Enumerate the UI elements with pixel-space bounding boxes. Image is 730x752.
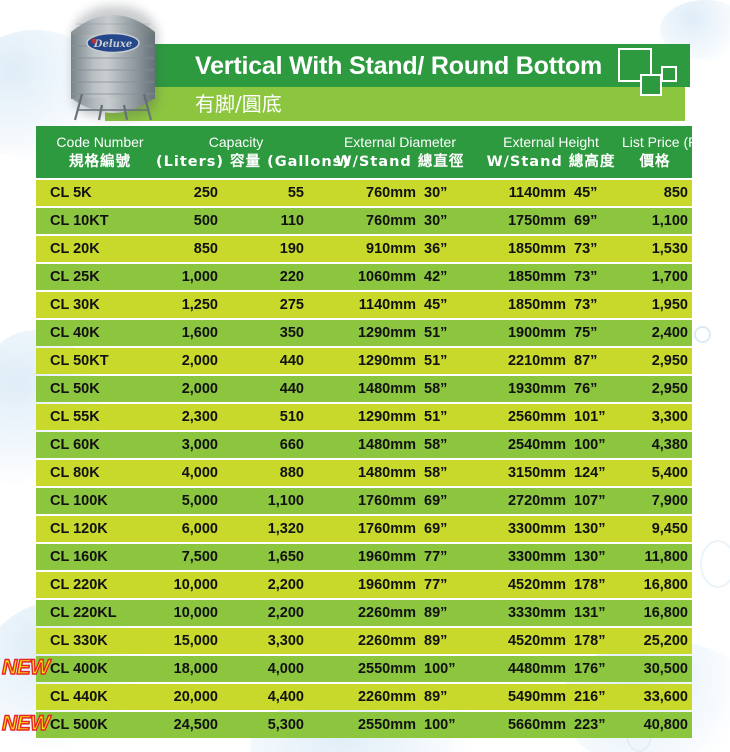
cell-list-price: 40,800	[616, 712, 688, 738]
cell-list-price: 16,800	[616, 600, 688, 626]
cell-list-price: 1,100	[616, 208, 688, 234]
cell-capacity-gallons: 4,400	[232, 684, 304, 710]
cell-capacity-liters: 24,500	[146, 712, 218, 738]
cell-capacity-liters: 2,000	[146, 376, 218, 402]
cell-height-mm: 1750mm	[474, 208, 566, 234]
cell-code: CL 120K	[50, 516, 150, 542]
cell-diameter-mm: 2260mm	[326, 684, 416, 710]
table-header-row: Code Number 規格編號 Capacity (Liters) 容量 (G…	[36, 126, 692, 178]
table-row: CL 10KT500110760mm30”1750mm69”1,100	[36, 208, 692, 234]
table-row: CL 40K1,6003501290mm51”1900mm75”2,400	[36, 320, 692, 346]
column-header-external-diameter: External Diameter W/Stand 總直徑	[320, 133, 480, 173]
cell-code: CL 80K	[50, 460, 150, 486]
cell-height-inch: 100”	[574, 432, 622, 458]
cell-capacity-liters: 500	[146, 208, 218, 234]
cell-list-price: 16,800	[616, 572, 688, 598]
price-table: Code Number 規格編號 Capacity (Liters) 容量 (G…	[36, 126, 692, 738]
cell-capacity-gallons: 350	[232, 320, 304, 346]
cell-capacity-liters: 4,000	[146, 460, 218, 486]
tank-shadow	[72, 6, 158, 118]
cell-height-mm: 2720mm	[474, 488, 566, 514]
table-row: CL 120K6,0001,3201760mm69”3300mm130”9,45…	[36, 516, 692, 542]
cell-diameter-mm: 1480mm	[326, 376, 416, 402]
cell-capacity-gallons: 275	[232, 292, 304, 318]
cell-diameter-inch: 77”	[424, 544, 472, 570]
cell-height-mm: 5490mm	[474, 684, 566, 710]
cell-height-inch: 130”	[574, 516, 622, 542]
cell-capacity-gallons: 880	[232, 460, 304, 486]
cell-diameter-inch: 42”	[424, 264, 472, 290]
cell-height-inch: 178”	[574, 628, 622, 654]
cell-capacity-gallons: 190	[232, 236, 304, 262]
cell-height-mm: 5660mm	[474, 712, 566, 738]
table-row: CL 400K18,0004,0002550mm100”4480mm176”30…	[36, 656, 692, 682]
cell-capacity-liters: 1,600	[146, 320, 218, 346]
new-badge: NEW	[2, 712, 62, 736]
cell-height-mm: 3300mm	[474, 516, 566, 542]
cell-capacity-liters: 850	[146, 236, 218, 262]
cell-code: CL 25K	[50, 264, 150, 290]
cell-code: CL 50KT	[50, 348, 150, 374]
cell-diameter-inch: 30”	[424, 208, 472, 234]
cell-diameter-inch: 69”	[424, 516, 472, 542]
cell-diameter-inch: 58”	[424, 460, 472, 486]
table-row: CL 500K24,5005,3002550mm100”5660mm223”40…	[36, 712, 692, 738]
cell-list-price: 850	[616, 180, 688, 206]
cell-capacity-gallons: 1,650	[232, 544, 304, 570]
cell-diameter-inch: 45”	[424, 292, 472, 318]
table-row: CL 160K7,5001,6501960mm77”3300mm130”11,8…	[36, 544, 692, 570]
cell-height-mm: 3300mm	[474, 544, 566, 570]
cell-diameter-inch: 51”	[424, 348, 472, 374]
cell-code: CL 440K	[50, 684, 150, 710]
cell-diameter-inch: 30”	[424, 180, 472, 206]
cell-code: CL 220KL	[50, 600, 150, 626]
cell-height-inch: 73”	[574, 236, 622, 262]
table-row: CL 55K2,3005101290mm51”2560mm101”3,300	[36, 404, 692, 430]
cell-height-inch: 87”	[574, 348, 622, 374]
cell-code: CL 500K	[50, 712, 150, 738]
column-header-external-height: External Height W/Stand 總高度	[476, 133, 626, 173]
cell-diameter-inch: 89”	[424, 628, 472, 654]
cell-height-mm: 3150mm	[474, 460, 566, 486]
cell-list-price: 33,600	[616, 684, 688, 710]
cell-list-price: 5,400	[616, 460, 688, 486]
cell-diameter-mm: 1480mm	[326, 460, 416, 486]
cell-code: CL 160K	[50, 544, 150, 570]
cell-capacity-liters: 250	[146, 180, 218, 206]
cell-code: CL 10KT	[50, 208, 150, 234]
table-row: CL 220KL10,0002,2002260mm89”3330mm131”16…	[36, 600, 692, 626]
cell-height-inch: 76”	[574, 376, 622, 402]
cell-height-mm: 1850mm	[474, 292, 566, 318]
cell-code: CL 40K	[50, 320, 150, 346]
cell-height-mm: 3330mm	[474, 600, 566, 626]
cell-diameter-mm: 1960mm	[326, 544, 416, 570]
cell-capacity-liters: 15,000	[146, 628, 218, 654]
table-row: CL 50KT2,0004401290mm51”2210mm87”2,950	[36, 348, 692, 374]
cell-list-price: 3,300	[616, 404, 688, 430]
cell-capacity-liters: 5,000	[146, 488, 218, 514]
cell-diameter-mm: 1290mm	[326, 348, 416, 374]
cell-diameter-inch: 69”	[424, 488, 472, 514]
cell-list-price: 9,450	[616, 516, 688, 542]
cell-diameter-mm: 1960mm	[326, 572, 416, 598]
cell-capacity-gallons: 440	[232, 348, 304, 374]
cell-height-inch: 69”	[574, 208, 622, 234]
cell-list-price: 2,950	[616, 376, 688, 402]
cell-code: CL 30K	[50, 292, 150, 318]
cell-height-inch: 73”	[574, 292, 622, 318]
cell-code: CL 100K	[50, 488, 150, 514]
cell-list-price: 30,500	[616, 656, 688, 682]
cell-diameter-inch: 100”	[424, 656, 472, 682]
page-title: Vertical With Stand/ Round Bottom	[195, 46, 675, 86]
cell-diameter-inch: 36”	[424, 236, 472, 262]
table-body: CL 5K25055760mm30”1140mm45”850CL 10KT500…	[36, 180, 692, 738]
table-row: CL 20K850190910mm36”1850mm73”1,530	[36, 236, 692, 262]
cell-height-mm: 4520mm	[474, 628, 566, 654]
water-tank-image: Deluxe	[58, 2, 168, 124]
cell-diameter-mm: 760mm	[326, 208, 416, 234]
cell-diameter-mm: 1290mm	[326, 404, 416, 430]
cell-diameter-mm: 2260mm	[326, 600, 416, 626]
cell-diameter-mm: 1760mm	[326, 488, 416, 514]
cell-diameter-mm: 1060mm	[326, 264, 416, 290]
cell-capacity-gallons: 2,200	[232, 600, 304, 626]
cell-capacity-liters: 3,000	[146, 432, 218, 458]
cell-capacity-gallons: 110	[232, 208, 304, 234]
cell-diameter-inch: 58”	[424, 376, 472, 402]
cell-capacity-liters: 10,000	[146, 572, 218, 598]
cell-capacity-gallons: 440	[232, 376, 304, 402]
cell-code: CL 5K	[50, 180, 150, 206]
cell-height-mm: 1140mm	[474, 180, 566, 206]
cell-height-mm: 2210mm	[474, 348, 566, 374]
cell-height-inch: 131”	[574, 600, 622, 626]
cell-code: CL 20K	[50, 236, 150, 262]
cell-capacity-gallons: 55	[232, 180, 304, 206]
cell-diameter-inch: 100”	[424, 712, 472, 738]
cell-height-mm: 1850mm	[474, 236, 566, 262]
cell-capacity-liters: 20,000	[146, 684, 218, 710]
cell-capacity-liters: 2,000	[146, 348, 218, 374]
page-title-chinese: 有脚/圓底	[195, 88, 675, 120]
cell-height-inch: 45”	[574, 180, 622, 206]
cell-height-inch: 216”	[574, 684, 622, 710]
cell-capacity-liters: 1,250	[146, 292, 218, 318]
cell-diameter-inch: 89”	[424, 600, 472, 626]
cell-list-price: 4,380	[616, 432, 688, 458]
cell-code: CL 220K	[50, 572, 150, 598]
table-row: CL 30K1,2502751140mm45”1850mm73”1,950	[36, 292, 692, 318]
cell-height-inch: 176”	[574, 656, 622, 682]
cell-diameter-mm: 910mm	[326, 236, 416, 262]
table-row: CL 80K4,0008801480mm58”3150mm124”5,400	[36, 460, 692, 486]
cell-capacity-gallons: 1,320	[232, 516, 304, 542]
cell-list-price: 2,950	[616, 348, 688, 374]
cell-height-inch: 223”	[574, 712, 622, 738]
cell-diameter-inch: 51”	[424, 404, 472, 430]
cell-capacity-gallons: 1,100	[232, 488, 304, 514]
cell-code: CL 55K	[50, 404, 150, 430]
column-header-code: Code Number 規格編號	[44, 133, 156, 173]
cell-capacity-gallons: 3,300	[232, 628, 304, 654]
cell-capacity-gallons: 4,000	[232, 656, 304, 682]
cell-height-mm: 4520mm	[474, 572, 566, 598]
cell-list-price: 1,700	[616, 264, 688, 290]
cell-capacity-gallons: 2,200	[232, 572, 304, 598]
cell-height-inch: 124”	[574, 460, 622, 486]
cell-diameter-mm: 2550mm	[326, 656, 416, 682]
cell-capacity-liters: 10,000	[146, 600, 218, 626]
cell-code: CL 50K	[50, 376, 150, 402]
cell-list-price: 1,530	[616, 236, 688, 262]
table-row: CL 50K2,0004401480mm58”1930mm76”2,950	[36, 376, 692, 402]
cell-height-mm: 4480mm	[474, 656, 566, 682]
cell-diameter-inch: 89”	[424, 684, 472, 710]
table-row: CL 25K1,0002201060mm42”1850mm73”1,700	[36, 264, 692, 290]
cell-diameter-mm: 2550mm	[326, 712, 416, 738]
new-badge: NEW	[2, 656, 62, 680]
table-row: CL 220K10,0002,2001960mm77”4520mm178”16,…	[36, 572, 692, 598]
cell-diameter-mm: 1290mm	[326, 320, 416, 346]
cell-code: CL 330K	[50, 628, 150, 654]
cell-capacity-gallons: 220	[232, 264, 304, 290]
cell-height-mm: 1930mm	[474, 376, 566, 402]
cell-height-inch: 75”	[574, 320, 622, 346]
cell-diameter-inch: 77”	[424, 572, 472, 598]
cell-height-inch: 73”	[574, 264, 622, 290]
cell-list-price: 7,900	[616, 488, 688, 514]
cell-capacity-gallons: 660	[232, 432, 304, 458]
cell-height-inch: 101”	[574, 404, 622, 430]
cell-capacity-gallons: 510	[232, 404, 304, 430]
cell-list-price: 25,200	[616, 628, 688, 654]
table-row: CL 5K25055760mm30”1140mm45”850	[36, 180, 692, 206]
table-row: CL 100K5,0001,1001760mm69”2720mm107”7,90…	[36, 488, 692, 514]
cell-diameter-mm: 2260mm	[326, 628, 416, 654]
cell-height-mm: 2540mm	[474, 432, 566, 458]
cell-capacity-liters: 18,000	[146, 656, 218, 682]
cell-height-mm: 1900mm	[474, 320, 566, 346]
cell-code: CL 60K	[50, 432, 150, 458]
cell-height-mm: 2560mm	[474, 404, 566, 430]
table-row: CL 440K20,0004,4002260mm89”5490mm216”33,…	[36, 684, 692, 710]
cell-list-price: 1,950	[616, 292, 688, 318]
cell-capacity-gallons: 5,300	[232, 712, 304, 738]
cell-capacity-liters: 2,300	[146, 404, 218, 430]
cell-capacity-liters: 7,500	[146, 544, 218, 570]
table-row: CL 60K3,0006601480mm58”2540mm100”4,380	[36, 432, 692, 458]
cell-list-price: 2,400	[616, 320, 688, 346]
column-header-capacity: Capacity (Liters) 容量 (Gallons)	[156, 133, 316, 173]
cell-diameter-mm: 760mm	[326, 180, 416, 206]
cell-height-inch: 107”	[574, 488, 622, 514]
cell-height-mm: 1850mm	[474, 264, 566, 290]
cell-diameter-mm: 1140mm	[326, 292, 416, 318]
cell-diameter-mm: 1760mm	[326, 516, 416, 542]
table-row: CL 330K15,0003,3002260mm89”4520mm178”25,…	[36, 628, 692, 654]
cell-capacity-liters: 1,000	[146, 264, 218, 290]
column-header-list-price: List Price (RM) 價格	[622, 133, 688, 173]
cell-diameter-mm: 1480mm	[326, 432, 416, 458]
cell-diameter-inch: 51”	[424, 320, 472, 346]
cell-height-inch: 178”	[574, 572, 622, 598]
cell-code: CL 400K	[50, 656, 150, 682]
cell-height-inch: 130”	[574, 544, 622, 570]
cell-list-price: 11,800	[616, 544, 688, 570]
cell-capacity-liters: 6,000	[146, 516, 218, 542]
cell-diameter-inch: 58”	[424, 432, 472, 458]
